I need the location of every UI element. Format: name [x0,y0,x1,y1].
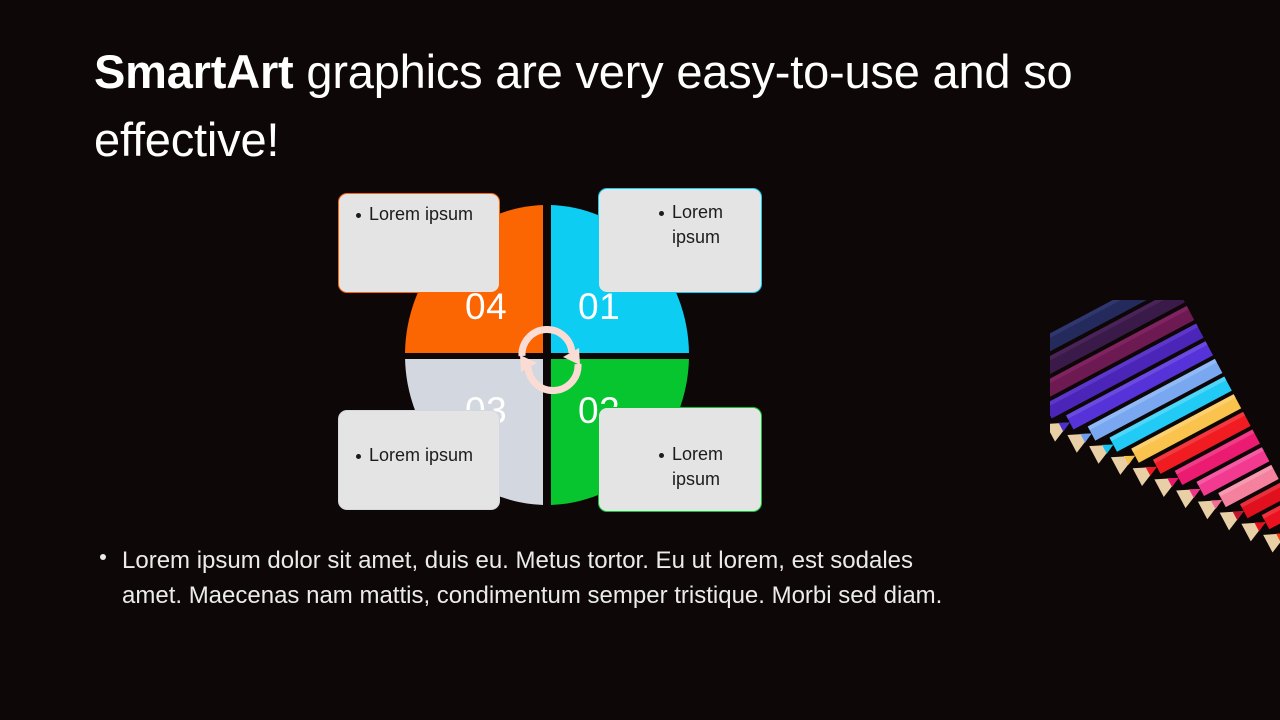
pencil [1050,306,1278,442]
label-box-04[interactable]: Lorem ipsum [338,193,500,293]
title-strong: SmartArt [94,45,294,98]
label-box-03-text: Lorem ipsum [369,443,479,468]
bullet-icon [659,211,664,216]
body-paragraph: Lorem ipsum dolor sit amet, duis eu. Met… [122,543,952,613]
colored-pencils-photo [1050,300,1280,720]
page-title: SmartArt graphics are very easy-to-use a… [94,38,1154,174]
label-box-01[interactable]: Lorem ipsum [598,188,762,293]
pencil [1220,394,1280,530]
slide-canvas: SmartArt graphics are very easy-to-use a… [0,0,1280,720]
label-box-02[interactable]: Lorem ipsum [598,407,762,512]
pencil [1050,300,1256,431]
pencil [1133,350,1280,486]
label-box-02-text: Lorem ipsum [672,442,772,492]
pencil [1154,361,1280,497]
label-box-01-text: Lorem ipsum [672,200,772,250]
bullet-icon [356,454,361,459]
label-box-03[interactable]: Lorem ipsum [338,410,500,510]
label-box-04-text: Lorem ipsum [369,202,479,227]
pencil [1050,300,1212,408]
pencil [1050,300,1191,397]
pencil [1241,405,1280,541]
pencil [1263,417,1280,553]
pencil [1067,317,1280,453]
pencil [1050,300,1234,419]
body-bullet-icon [100,554,106,560]
bullet-icon [356,213,361,218]
pencil [1089,328,1280,464]
pencil [1198,383,1280,519]
pencil [1111,339,1280,475]
smartart-diagram[interactable]: 04 01 03 02 Lorem ipsum Lorem ipsum [330,185,770,525]
bullet-icon [659,453,664,458]
circular-arrows-icon [513,323,587,397]
pencil [1176,372,1280,508]
